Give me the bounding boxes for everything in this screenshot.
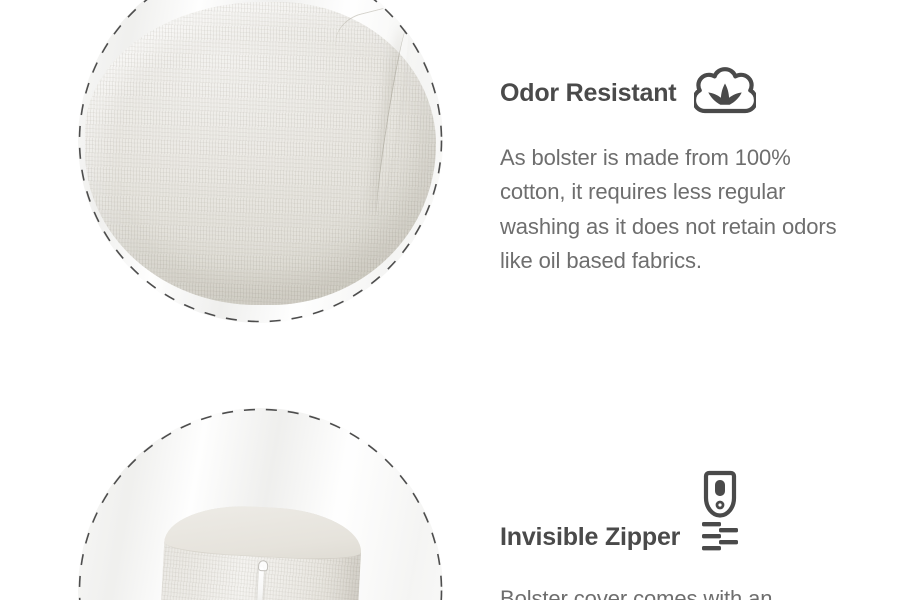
product-photo-invisible-zipper xyxy=(78,408,443,600)
feature-header-odor-resistant: Odor Resistant xyxy=(500,66,852,121)
zipper-icon xyxy=(698,470,742,562)
feature-invisible-zipper: Invisible Zipper xyxy=(500,512,772,600)
cotton-boll-icon xyxy=(694,66,756,121)
feature-body-odor-resistant: As bolster is made from 100% cotton, it … xyxy=(500,141,852,278)
feature-title-odor-resistant: Odor Resistant xyxy=(500,79,676,108)
feature-body-invisible-zipper: Bolster cover comes with an xyxy=(500,582,772,600)
bolster-end-cushion xyxy=(85,2,435,305)
photo-clip-bottom xyxy=(78,408,443,600)
feature-odor-resistant: Odor Resistant As bolster is made from 1… xyxy=(500,66,852,278)
photo-clip-top xyxy=(78,0,443,323)
feature-header-invisible-zipper: Invisible Zipper xyxy=(500,512,772,562)
infographic-page: Odor Resistant As bolster is made from 1… xyxy=(0,0,900,600)
product-photo-odor-resistant xyxy=(78,0,443,323)
feature-title-invisible-zipper: Invisible Zipper xyxy=(500,523,680,552)
